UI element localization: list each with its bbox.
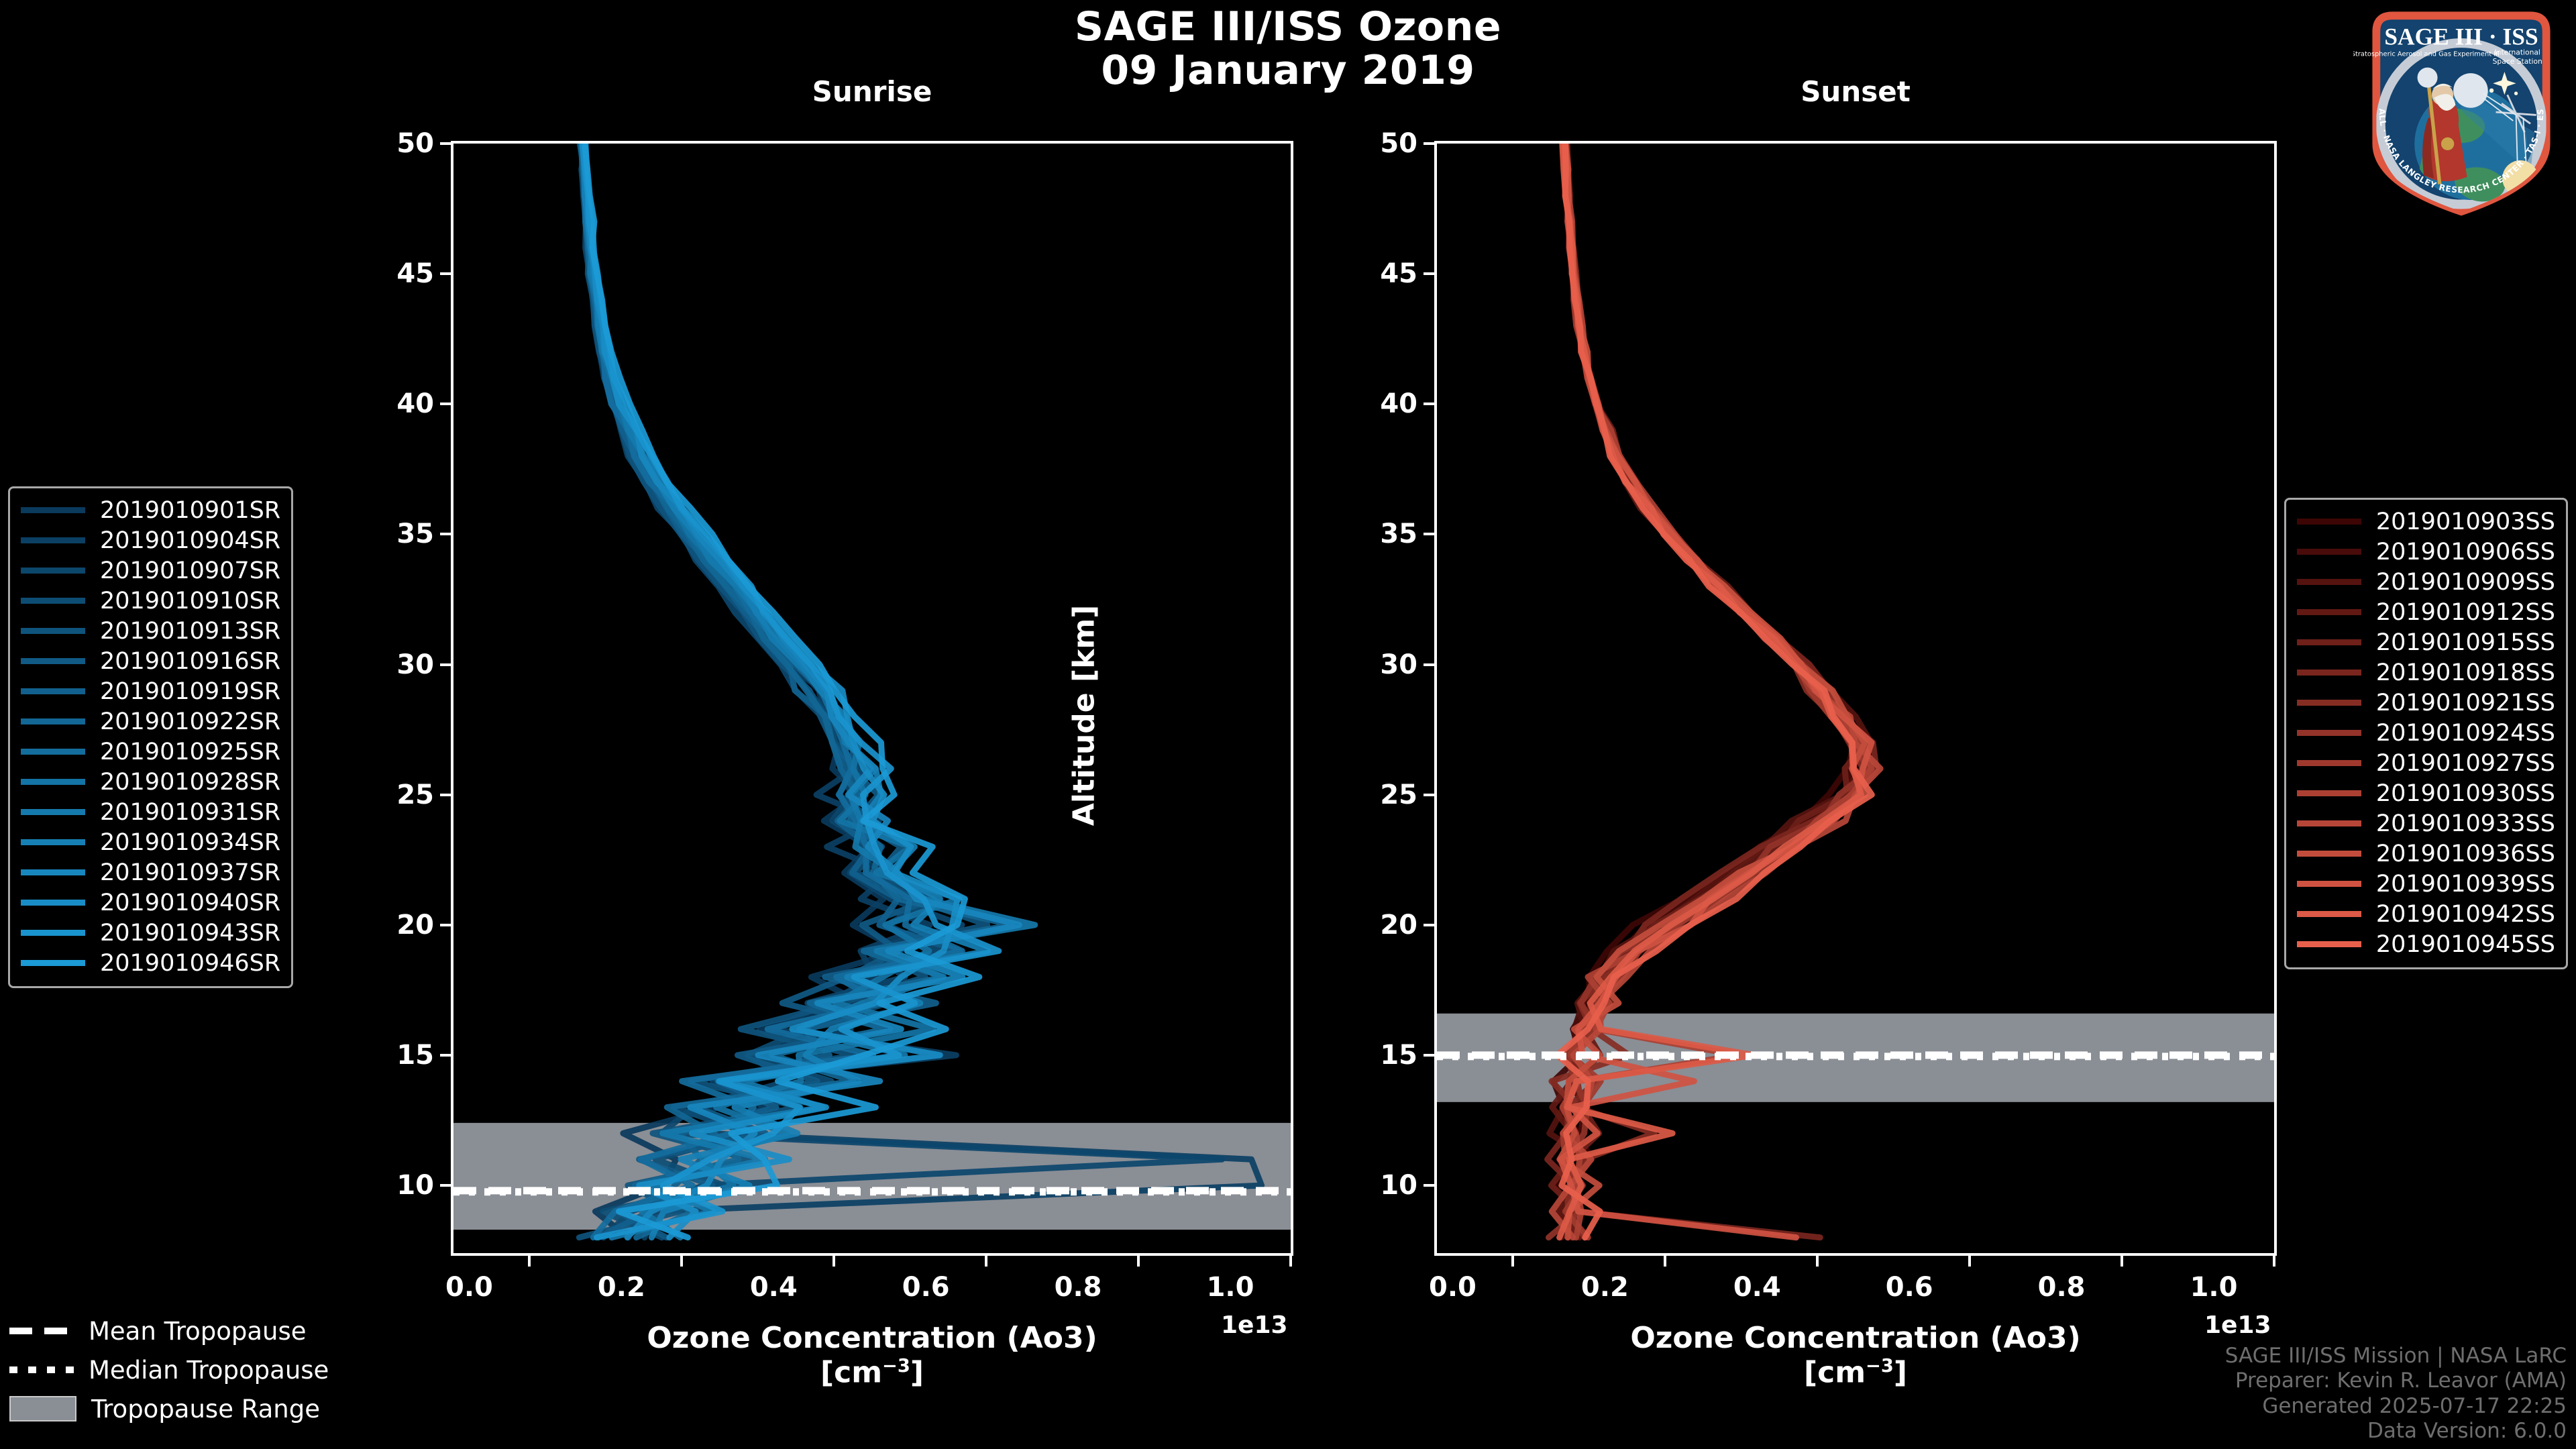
- sunrise-ytick-mark: [440, 924, 451, 926]
- tropopause-legend-item-mean[interactable]: Mean Tropopause: [9, 1311, 329, 1350]
- tropopause-median-key-icon: [9, 1366, 74, 1373]
- sunrise-legend-item[interactable]: 2019010934SR: [21, 827, 280, 857]
- sunset-xtick-label: 0.8: [2001, 1272, 2122, 1303]
- sunrise-plot-svg: [453, 144, 1291, 1253]
- sunrise-legend-color-swatch: [21, 900, 85, 906]
- tropopause-legend-item-range[interactable]: Tropopause Range: [9, 1389, 329, 1428]
- sunset-xtick-label: 0.2: [1544, 1272, 1665, 1303]
- sunrise-xaxis-title: Ozone Concentration (Ao3) [cm−3]: [451, 1322, 1293, 1390]
- sunset-legend-label: 2019010903SS: [2376, 508, 2555, 535]
- figure-root: SAGE III/ISS Ozone 09 January 2019 Sunri…: [0, 0, 2576, 1449]
- sunset-legend-item[interactable]: 2019010903SS: [2297, 506, 2555, 537]
- sunrise-ytick-mark: [440, 794, 451, 796]
- tropopause-range-label: Tropopause Range: [91, 1395, 320, 1424]
- sunset-ytick-label: 20: [1320, 910, 1417, 941]
- sunrise-legend-label: 2019010946SR: [100, 950, 280, 977]
- sunset-legend-label: 2019010927SS: [2376, 750, 2555, 777]
- ozone-profile-line: [580, 144, 1222, 1238]
- credits-line-3: Generated 2025-07-17 22:25: [2225, 1394, 2567, 1419]
- sunset-ytick-label: 35: [1320, 519, 1417, 549]
- sunset-xtick-mark: [1511, 1256, 1514, 1267]
- sunrise-xtick-label: 0.0: [409, 1272, 529, 1303]
- sunrise-legend-label: 2019010919SR: [100, 678, 280, 705]
- sunrise-xtick-mark: [833, 1256, 835, 1267]
- sunset-legend-label: 2019010945SS: [2376, 931, 2555, 958]
- sunrise-xtick-mark: [528, 1256, 531, 1267]
- tropopause-legend[interactable]: Mean TropopauseMedian TropopauseTropopau…: [9, 1311, 329, 1428]
- sunset-legend-label: 2019010930SS: [2376, 780, 2555, 807]
- sunset-plot-area: [1434, 141, 2277, 1256]
- sunset-xtick-mark: [2121, 1256, 2123, 1267]
- sunset-legend-item[interactable]: 2019010945SS: [2297, 929, 2555, 959]
- sunrise-ytick-mark: [440, 1054, 451, 1057]
- tropopause-mean-label: Mean Tropopause: [89, 1317, 307, 1346]
- sunset-legend-label: 2019010912SS: [2376, 599, 2555, 626]
- sunrise-plot-area: [451, 141, 1293, 1256]
- sunset-legend-label: 2019010921SS: [2376, 690, 2555, 716]
- sunset-xtick-label: 0.4: [1697, 1272, 1817, 1303]
- patch-star-small-2: [2514, 92, 2518, 95]
- sunset-legend-item[interactable]: 2019010927SS: [2297, 748, 2555, 778]
- sage-iii-iss-mission-patch-icon: BALL · NASA LANGLEY RESEARCH CENTER · TA…: [2353, 3, 2569, 219]
- sunrise-legend-color-swatch: [21, 869, 85, 875]
- sunset-xtick-mark: [2273, 1256, 2275, 1267]
- sunrise-legend-item[interactable]: 2019010931SR: [21, 797, 280, 827]
- sunset-legend-color-swatch: [2297, 669, 2361, 676]
- sunrise-legend-label: 2019010925SR: [100, 739, 280, 765]
- sunrise-legend-color-swatch: [21, 718, 85, 724]
- sunset-legend-label: 2019010918SS: [2376, 659, 2555, 686]
- sunset-xtick-label: 1.0: [2153, 1272, 2274, 1303]
- sunset-legend-label: 2019010915SS: [2376, 629, 2555, 656]
- sunset-ytick-label: 10: [1320, 1170, 1417, 1201]
- sunset-xtick-mark: [1968, 1256, 1971, 1267]
- sunset-ytick-mark: [1424, 663, 1434, 666]
- sunset-ytick-label: 40: [1320, 388, 1417, 419]
- sunrise-legend-label: 2019010916SR: [100, 648, 280, 675]
- tropopause-legend-item-median[interactable]: Median Tropopause: [9, 1350, 329, 1389]
- credits-line-2: Preparer: Kevin R. Leavor (AMA): [2225, 1368, 2567, 1393]
- sunset-legend-color-swatch: [2297, 851, 2361, 857]
- sunset-legend-item[interactable]: 2019010936SS: [2297, 839, 2555, 869]
- sunset-legend-color-swatch: [2297, 730, 2361, 736]
- sunrise-legend-item[interactable]: 2019010913SR: [21, 616, 280, 646]
- sunset-ytick-label: 45: [1320, 258, 1417, 289]
- sunrise-legend-label: 2019010943SR: [100, 920, 280, 947]
- credits-line-4: Data Version: 6.0.0: [2225, 1419, 2567, 1444]
- patch-subtitle-left: Stratospheric Aerosol and Gas Experiment…: [2353, 50, 2500, 58]
- sunset-legend-color-swatch: [2297, 519, 2361, 525]
- patch-moon: [2453, 73, 2488, 108]
- sunrise-xtick-mark: [1137, 1256, 1140, 1267]
- sunset-legend-item[interactable]: 2019010909SS: [2297, 567, 2555, 597]
- sunrise-legend-color-swatch: [21, 809, 85, 815]
- sunrise-ytick-label: 50: [337, 128, 434, 159]
- sunset-plot-svg: [1437, 144, 2274, 1253]
- sunset-ytick-label: 15: [1320, 1040, 1417, 1071]
- sunrise-xtick-label: 1.0: [1170, 1272, 1291, 1303]
- tropopause-range-key-icon: [9, 1396, 76, 1421]
- sunset-legend-color-swatch: [2297, 941, 2361, 947]
- figure-title-line1: SAGE III/ISS Ozone: [0, 5, 2576, 49]
- sunrise-legend-label: 2019010937SR: [100, 859, 280, 886]
- sunrise-xtick-label: 0.2: [561, 1272, 682, 1303]
- sunrise-ytick-mark: [440, 533, 451, 535]
- sunset-axis-exponent: 1e13: [2204, 1311, 2271, 1339]
- sunrise-ytick-label: 30: [337, 649, 434, 680]
- sunset-xtick-mark: [1664, 1256, 1666, 1267]
- sunrise-legend-label: 2019010904SR: [100, 527, 280, 554]
- patch-staff-orb: [2418, 68, 2438, 88]
- sunrise-legend-color-swatch: [21, 628, 85, 634]
- sunset-legend-item[interactable]: 2019010912SS: [2297, 597, 2555, 627]
- sunset-legend-color-swatch: [2297, 700, 2361, 706]
- sunrise-xaxis-title-main: Ozone Concentration (Ao3): [451, 1322, 1293, 1356]
- sunset-legend-item[interactable]: 2019010921SS: [2297, 688, 2555, 718]
- sunset-legend-item[interactable]: 2019010918SS: [2297, 657, 2555, 688]
- sunset-legend-item[interactable]: 2019010933SS: [2297, 808, 2555, 839]
- sunset-legend-color-swatch: [2297, 760, 2361, 766]
- sunrise-legend-label: 2019010910SR: [100, 588, 280, 614]
- tropopause-mean-key-icon: [9, 1328, 74, 1334]
- sunset-ytick-mark: [1424, 272, 1434, 275]
- sunset-legend[interactable]: 2019010903SS2019010906SS2019010909SS2019…: [2284, 498, 2568, 969]
- sunrise-legend-color-swatch: [21, 658, 85, 664]
- sunrise-legend-item[interactable]: 2019010901SR: [21, 495, 280, 525]
- sunset-ytick-mark: [1424, 1054, 1434, 1057]
- sunrise-ytick-mark: [440, 402, 451, 405]
- sunset-legend-item[interactable]: 2019010942SS: [2297, 899, 2555, 929]
- sunset-ytick-mark: [1424, 402, 1434, 405]
- sunset-legend-item[interactable]: 2019010939SS: [2297, 869, 2555, 899]
- sunrise-legend-label: 2019010913SR: [100, 618, 280, 645]
- sunrise-legend-item[interactable]: 2019010925SR: [21, 737, 280, 767]
- sunrise-xtick-label: 0.4: [713, 1272, 834, 1303]
- sunset-yaxis-title: Altitude [km]: [1067, 575, 1102, 857]
- sunrise-legend-color-swatch: [21, 537, 85, 543]
- sunset-legend-color-swatch: [2297, 820, 2361, 826]
- sunrise-legend-item[interactable]: 2019010937SR: [21, 857, 280, 888]
- sunrise-legend-item[interactable]: 2019010910SR: [21, 586, 280, 616]
- sunset-xaxis-title-main: Ozone Concentration (Ao3): [1434, 1322, 2277, 1356]
- sunset-legend-item[interactable]: 2019010930SS: [2297, 778, 2555, 808]
- sunset-xtick-label: 0.6: [1849, 1272, 1970, 1303]
- sunrise-xaxis-units: [cm−3]: [451, 1356, 1293, 1390]
- sunset-panel-title: Sunset: [1434, 75, 2277, 108]
- sunset-legend-item[interactable]: 2019010924SS: [2297, 718, 2555, 748]
- sunset-ytick-label: 25: [1320, 780, 1417, 810]
- sunrise-legend-label: 2019010934SR: [100, 829, 280, 856]
- sunrise-legend-item[interactable]: 2019010916SR: [21, 646, 280, 676]
- patch-subtitle-right-line1: International: [2495, 48, 2540, 56]
- sunrise-legend-label: 2019010928SR: [100, 769, 280, 796]
- credits-line-1: SAGE III/ISS Mission | NASA LaRC: [2225, 1344, 2567, 1368]
- sunrise-ytick-label: 40: [337, 388, 434, 419]
- sunrise-legend[interactable]: 2019010901SR2019010904SR2019010907SR2019…: [8, 486, 293, 988]
- sunrise-ytick-label: 25: [337, 780, 434, 810]
- sunset-legend-label: 2019010939SS: [2376, 871, 2555, 898]
- sunset-legend-color-swatch: [2297, 579, 2361, 585]
- sunrise-ytick-label: 15: [337, 1040, 434, 1071]
- sunrise-xtick-label: 0.6: [865, 1272, 986, 1303]
- sunrise-legend-color-swatch: [21, 598, 85, 604]
- sunrise-legend-item[interactable]: 2019010943SR: [21, 918, 280, 948]
- sunrise-legend-item[interactable]: 2019010946SR: [21, 948, 280, 978]
- sunset-legend-label: 2019010933SS: [2376, 810, 2555, 837]
- sunrise-legend-label: 2019010940SR: [100, 890, 280, 916]
- sunrise-legend-color-swatch: [21, 749, 85, 755]
- sunset-ytick-mark: [1424, 533, 1434, 535]
- sunset-legend-color-swatch: [2297, 911, 2361, 917]
- sunrise-legend-item[interactable]: 2019010928SR: [21, 767, 280, 797]
- patch-sage-belt-buckle: [2441, 138, 2454, 150]
- ozone-profile-line: [581, 144, 1261, 1238]
- sunset-legend-label: 2019010942SS: [2376, 901, 2555, 928]
- sunset-xaxis-units: [cm−3]: [1434, 1356, 2277, 1390]
- sunset-legend-label: 2019010924SS: [2376, 720, 2555, 747]
- sunset-ytick-label: 30: [1320, 649, 1417, 680]
- sunset-legend-label: 2019010936SS: [2376, 841, 2555, 867]
- sunrise-ytick-label: 20: [337, 910, 434, 941]
- sunrise-legend-color-swatch: [21, 839, 85, 845]
- sunrise-ytick-label: 35: [337, 519, 434, 549]
- sunrise-xtick-mark: [985, 1256, 987, 1267]
- sunrise-panel-title: Sunrise: [451, 75, 1293, 108]
- sunrise-legend-item[interactable]: 2019010922SR: [21, 706, 280, 737]
- credits-block: SAGE III/ISS Mission | NASA LaRCPreparer…: [2225, 1344, 2567, 1444]
- sunrise-xtick-mark: [1289, 1256, 1292, 1267]
- sunset-legend-color-swatch: [2297, 549, 2361, 555]
- sunrise-ytick-mark: [440, 1184, 451, 1187]
- sunrise-legend-color-swatch: [21, 568, 85, 574]
- sunrise-legend-color-swatch: [21, 688, 85, 694]
- sunrise-axis-exponent: 1e13: [1221, 1311, 1288, 1339]
- sunrise-ytick-mark: [440, 663, 451, 666]
- sunrise-legend-color-swatch: [21, 779, 85, 785]
- sunset-legend-label: 2019010909SS: [2376, 569, 2555, 596]
- sunset-ytick-mark: [1424, 794, 1434, 796]
- sunrise-legend-item[interactable]: 2019010919SR: [21, 676, 280, 706]
- sunset-legend-label: 2019010906SS: [2376, 539, 2555, 566]
- sunset-ytick-label: 50: [1320, 128, 1417, 159]
- sunrise-legend-label: 2019010922SR: [100, 708, 280, 735]
- tropopause-median-label: Median Tropopause: [89, 1356, 329, 1385]
- sunset-legend-color-swatch: [2297, 881, 2361, 887]
- sunrise-ytick-mark: [440, 272, 451, 275]
- sunrise-ytick-label: 10: [337, 1170, 434, 1201]
- sunset-legend-color-swatch: [2297, 639, 2361, 645]
- sunset-legend-color-swatch: [2297, 609, 2361, 615]
- patch-title: SAGE III · ISS: [2384, 23, 2538, 50]
- sunset-ytick-mark: [1424, 1184, 1434, 1187]
- sunset-xtick-label: 0.0: [1392, 1272, 1513, 1303]
- sunset-ytick-mark: [1424, 924, 1434, 926]
- sunset-legend-color-swatch: [2297, 790, 2361, 796]
- sunrise-ytick-mark: [440, 142, 451, 145]
- sunrise-xtick-mark: [680, 1256, 683, 1267]
- sunset-xaxis-title: Ozone Concentration (Ao3) [cm−3]: [1434, 1322, 2277, 1390]
- sunrise-legend-item[interactable]: 2019010940SR: [21, 888, 280, 918]
- sunrise-ytick-label: 45: [337, 258, 434, 289]
- sunset-ytick-mark: [1424, 142, 1434, 145]
- sunset-legend-item[interactable]: 2019010906SS: [2297, 537, 2555, 567]
- sunrise-legend-label: 2019010901SR: [100, 497, 280, 524]
- sunrise-xtick-label: 0.8: [1018, 1272, 1138, 1303]
- sunrise-legend-item[interactable]: 2019010904SR: [21, 525, 280, 555]
- sunrise-legend-color-swatch: [21, 930, 85, 936]
- patch-subtitle-right-line2: Space Station: [2493, 57, 2542, 66]
- sunrise-legend-color-swatch: [21, 507, 85, 513]
- sunrise-legend-label: 2019010907SR: [100, 557, 280, 584]
- sunrise-legend-label: 2019010931SR: [100, 799, 280, 826]
- sunrise-legend-color-swatch: [21, 960, 85, 966]
- sunset-xtick-mark: [1816, 1256, 1819, 1267]
- patch-star-small-1: [2489, 89, 2493, 93]
- sunset-legend-item[interactable]: 2019010915SS: [2297, 627, 2555, 657]
- sunrise-legend-item[interactable]: 2019010907SR: [21, 555, 280, 586]
